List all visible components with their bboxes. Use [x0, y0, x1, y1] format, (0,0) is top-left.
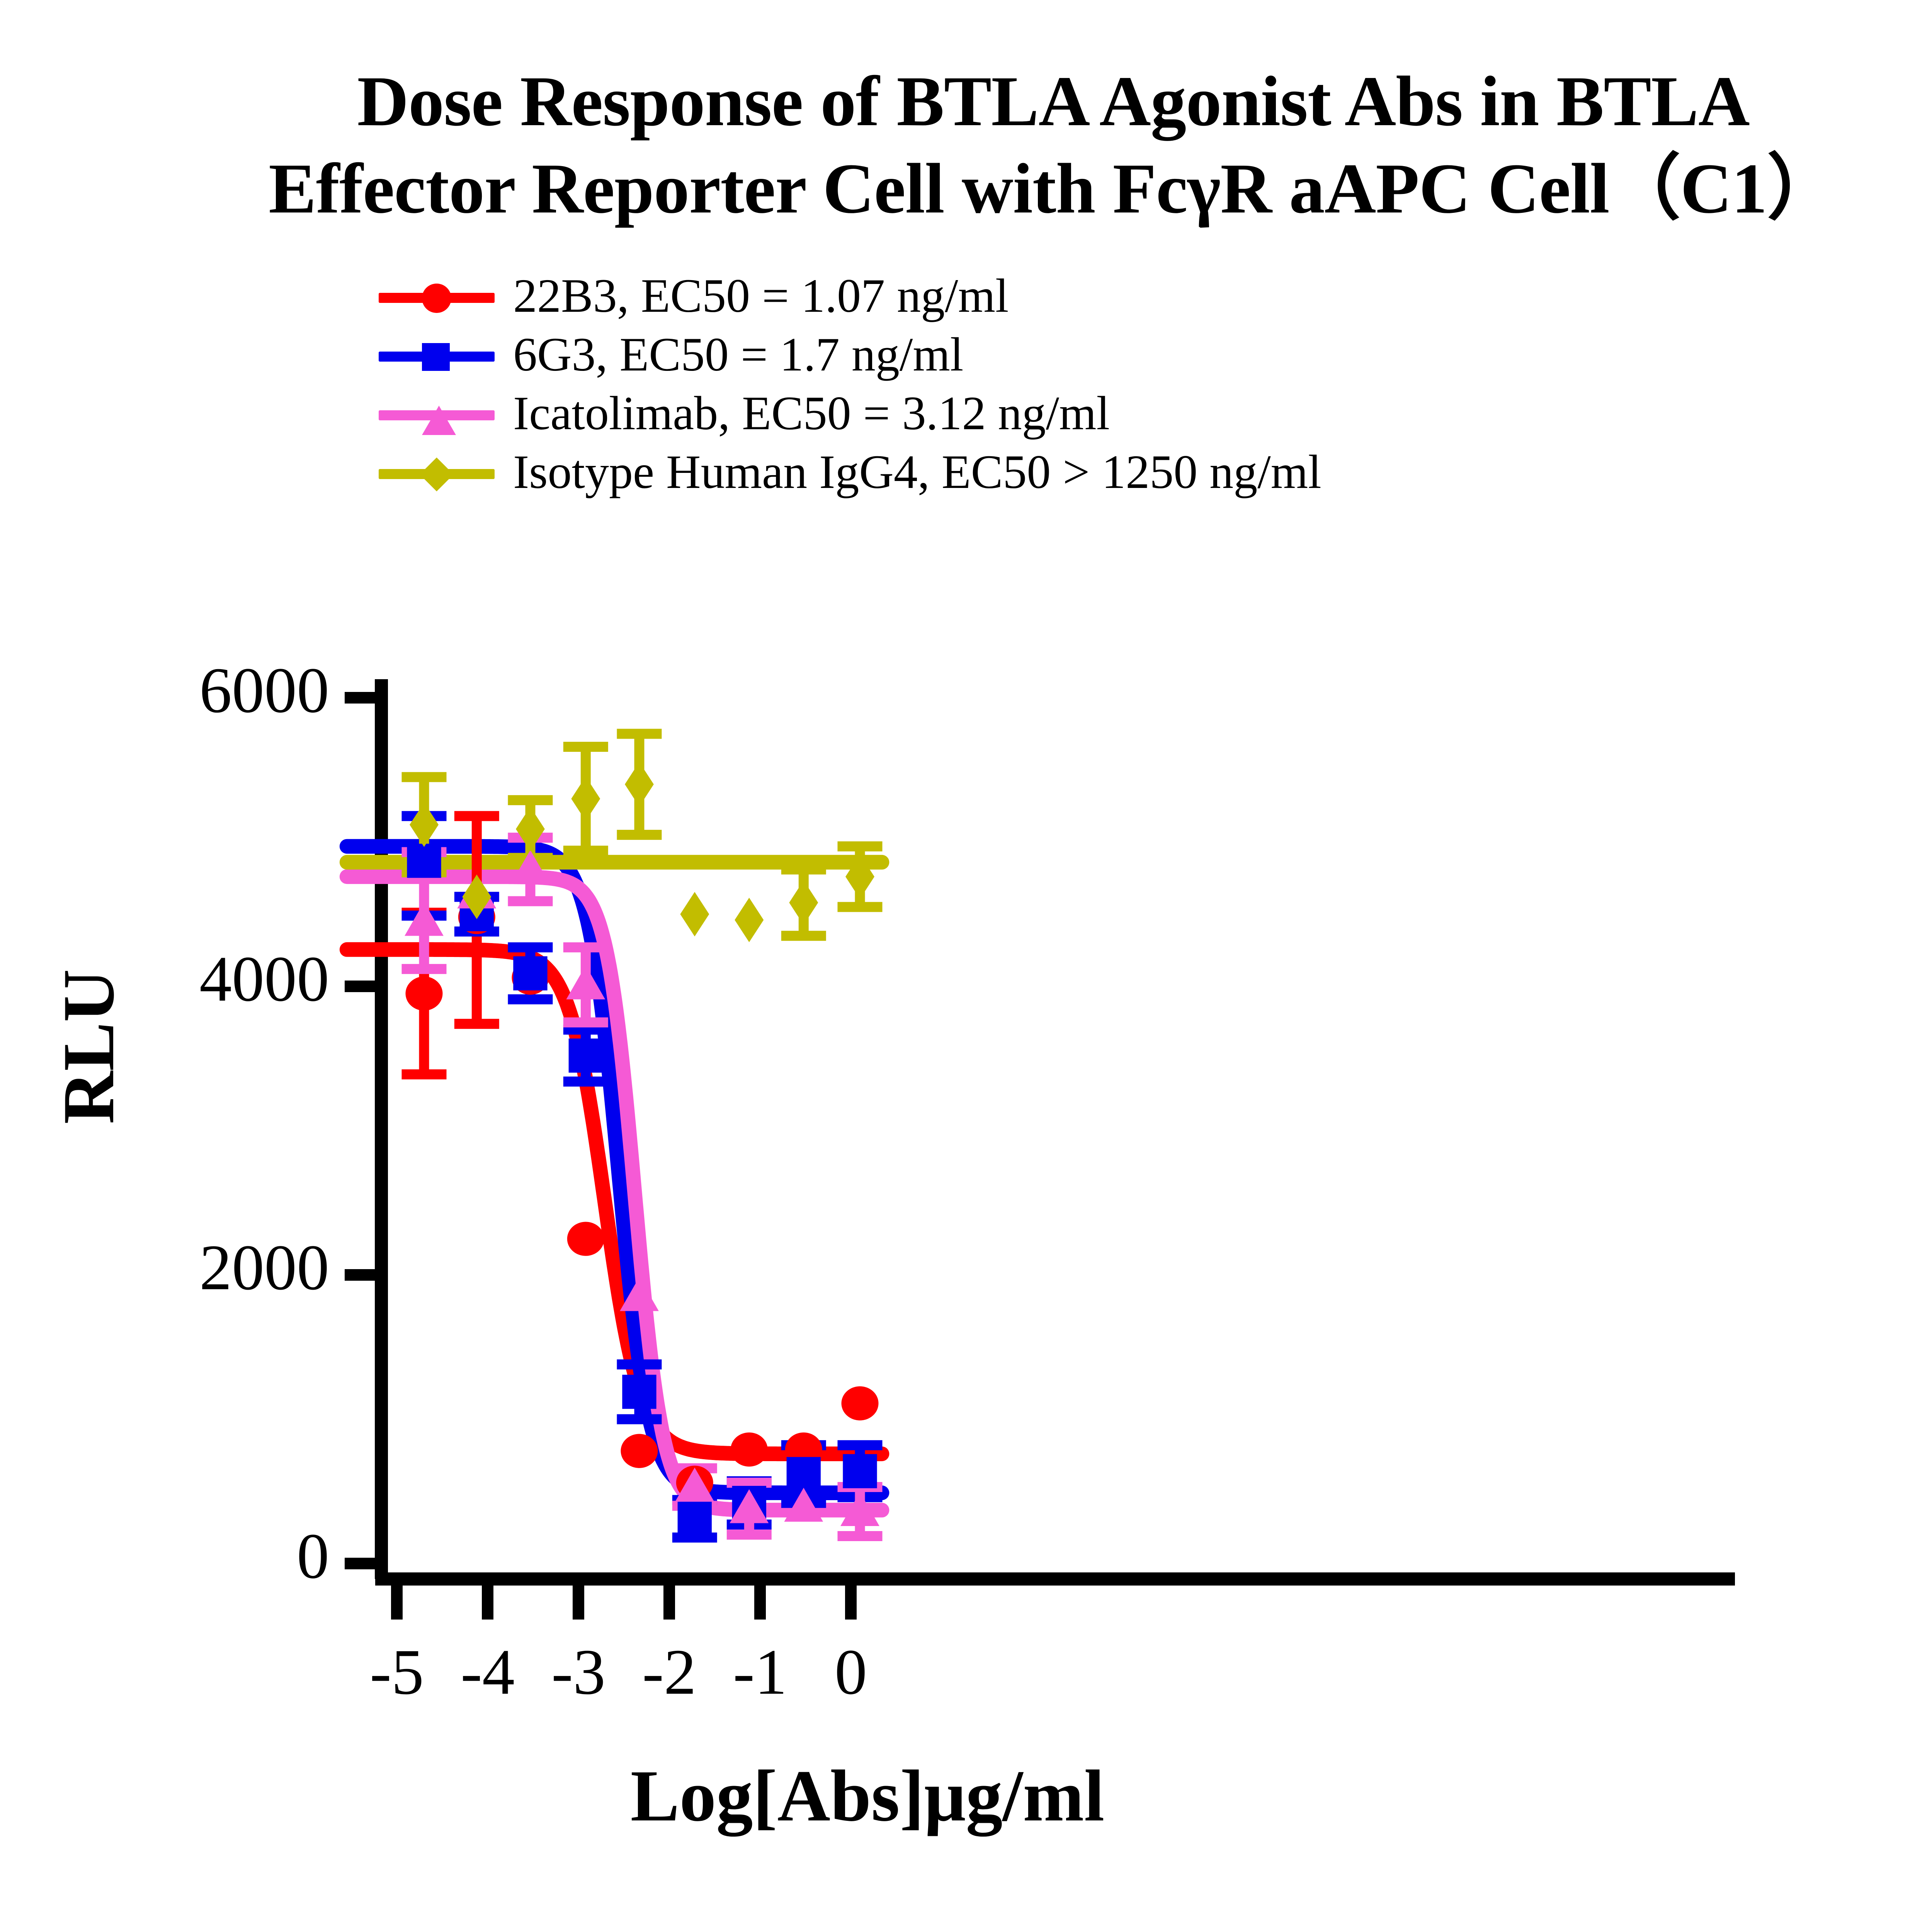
data-point-diamond[interactable] [789, 880, 818, 925]
data-point-square[interactable] [513, 956, 547, 990]
data-point-circle[interactable] [567, 1222, 604, 1256]
data-point-square[interactable] [678, 1502, 712, 1536]
data-point-square[interactable] [569, 1038, 603, 1072]
data-point-circle[interactable] [621, 1434, 658, 1468]
data-point-diamond[interactable] [571, 777, 600, 821]
x-axis-label: Log[Abs]μg/ml [0, 1754, 1735, 1838]
data-point-square[interactable] [622, 1375, 656, 1409]
data-point-square[interactable] [843, 1454, 877, 1488]
y-tick-label: 0 [78, 1519, 329, 1594]
data-point-square[interactable] [407, 844, 441, 878]
plot-area: RLU Log[Abs]μg/ml 0200040006000 -5-4-3-2… [0, 0, 1932, 1910]
data-point-circle[interactable] [731, 1433, 768, 1467]
data-point-diamond[interactable] [735, 898, 764, 942]
x-tick-label: 0 [774, 1635, 928, 1710]
chart-page: Dose Response of BTLA Agonist Abs in BTL… [0, 0, 1932, 1910]
y-tick-label: 2000 [78, 1230, 329, 1305]
y-tick-label: 6000 [78, 653, 329, 728]
data-point-diamond[interactable] [625, 762, 654, 807]
data-point-diamond[interactable] [680, 892, 709, 936]
data-point-circle[interactable] [406, 977, 443, 1011]
data-point-square[interactable] [787, 1457, 821, 1491]
y-tick-label: 4000 [78, 942, 329, 1016]
data-point-circle[interactable] [842, 1386, 879, 1420]
